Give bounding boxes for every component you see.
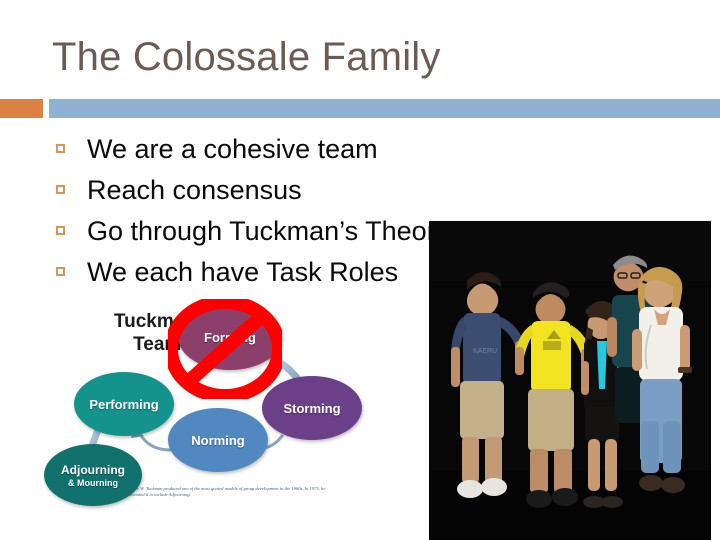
bullet-text: We each have Task Roles	[87, 257, 398, 287]
stage-label: Norming	[191, 433, 244, 448]
tuckman-model-diagram: Tuckman’s Teams Forming	[36, 300, 386, 528]
diagram-caption: Bruce W. Tuckman produced one of the mos…	[128, 486, 333, 498]
square-bullet-icon	[56, 185, 65, 194]
bullet-text: We are a cohesive team	[87, 134, 378, 164]
prohibition-sign-icon	[168, 299, 282, 399]
title-accent-block-orange	[0, 99, 43, 118]
page-title: The Colossale Family	[52, 33, 441, 81]
bullet-text: Go through Tuckman’s Theory	[87, 216, 449, 246]
presentation-slide: The Colossale Family We are a cohesive t…	[0, 0, 720, 540]
bullet-text: Reach consensus	[87, 175, 302, 205]
svg-text:KAERU: KAERU	[473, 348, 497, 355]
list-item: We are a cohesive team	[52, 132, 522, 166]
square-bullet-icon	[56, 226, 65, 235]
square-bullet-icon	[56, 267, 65, 276]
diagram-stage-performing: Performing	[74, 372, 174, 436]
list-item: Reach consensus	[52, 173, 522, 207]
family-photo-image: KAERU	[429, 221, 711, 540]
stage-label: Performing	[89, 397, 158, 412]
stage-label: Storming	[283, 401, 340, 416]
diagram-stage-norming: Norming	[168, 408, 268, 472]
family-photo: KAERU	[429, 221, 711, 540]
stage-sub-label: & Mourning	[68, 478, 118, 488]
stage-label: Adjourning	[61, 463, 125, 477]
square-bullet-icon	[56, 144, 65, 153]
title-divider-bar-blue	[49, 99, 720, 118]
